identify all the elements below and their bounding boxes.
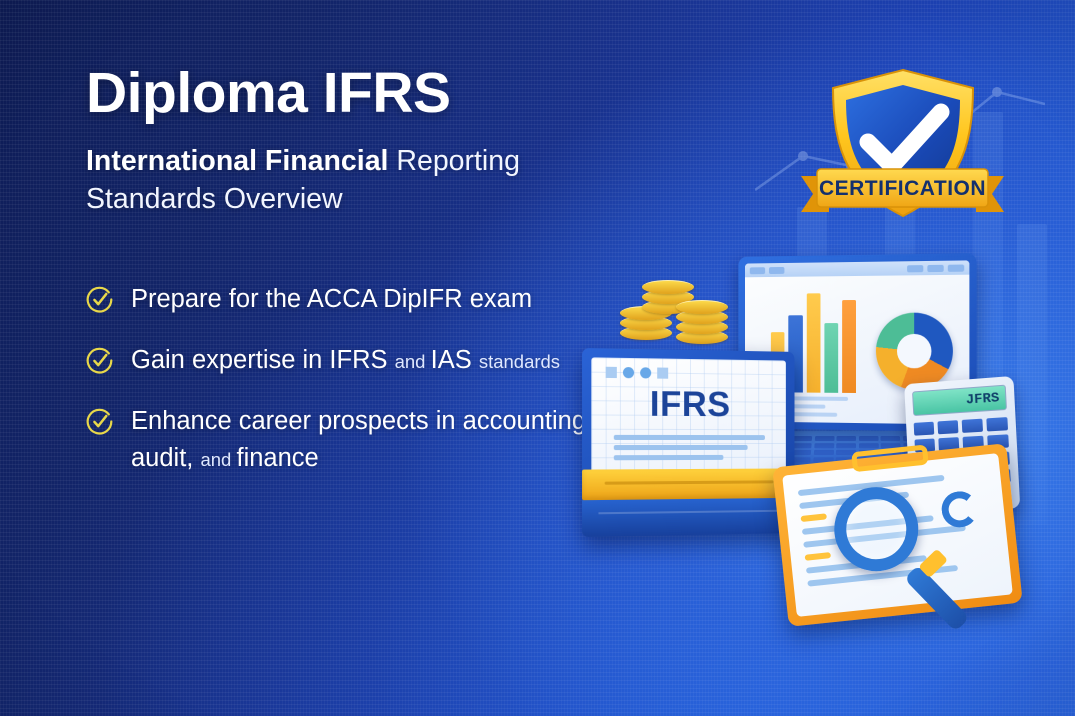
check-circle-icon xyxy=(86,347,113,374)
calculator-display: JFRS xyxy=(912,385,1007,416)
list-item-label: Gain expertise in IFRS and IAS standards xyxy=(131,342,560,378)
ifrs-book-title: IFRS xyxy=(650,385,731,426)
page-title: Diploma IFRS xyxy=(86,64,676,124)
page-text-lines xyxy=(613,435,765,460)
coin-stacks xyxy=(620,278,735,358)
illustration-cluster: JFRS IFRS xyxy=(565,240,1075,640)
page-icon-row xyxy=(606,367,669,379)
badge-ribbon-label: CERTIFICATION xyxy=(819,177,986,200)
at-symbol-icon xyxy=(940,490,980,530)
list-item-label: Prepare for the ACCA DipIFR exam xyxy=(131,281,532,317)
certification-shield-badge: CERTIFICATION xyxy=(795,58,1010,243)
page-subtitle: International Financial Reporting Standa… xyxy=(86,142,676,218)
ifrs-book-page: IFRS xyxy=(591,357,786,485)
headline-block: Diploma IFRS International Financial Rep… xyxy=(86,64,676,218)
subtitle-bold: International Financial xyxy=(86,145,388,177)
subtitle-line2: Standards Overview xyxy=(86,183,343,215)
ifrs-book: IFRS xyxy=(582,348,794,537)
ifrs-book-base xyxy=(582,498,794,537)
dashboard-donut-chart xyxy=(876,312,953,389)
ifrs-book-band xyxy=(582,468,794,500)
subtitle-rest: Reporting xyxy=(388,145,520,177)
check-circle-icon xyxy=(86,408,113,435)
banner-root: Diploma IFRS International Financial Rep… xyxy=(0,0,1075,716)
clipboard-with-magnifier xyxy=(772,443,1022,627)
check-circle-icon xyxy=(86,286,113,313)
